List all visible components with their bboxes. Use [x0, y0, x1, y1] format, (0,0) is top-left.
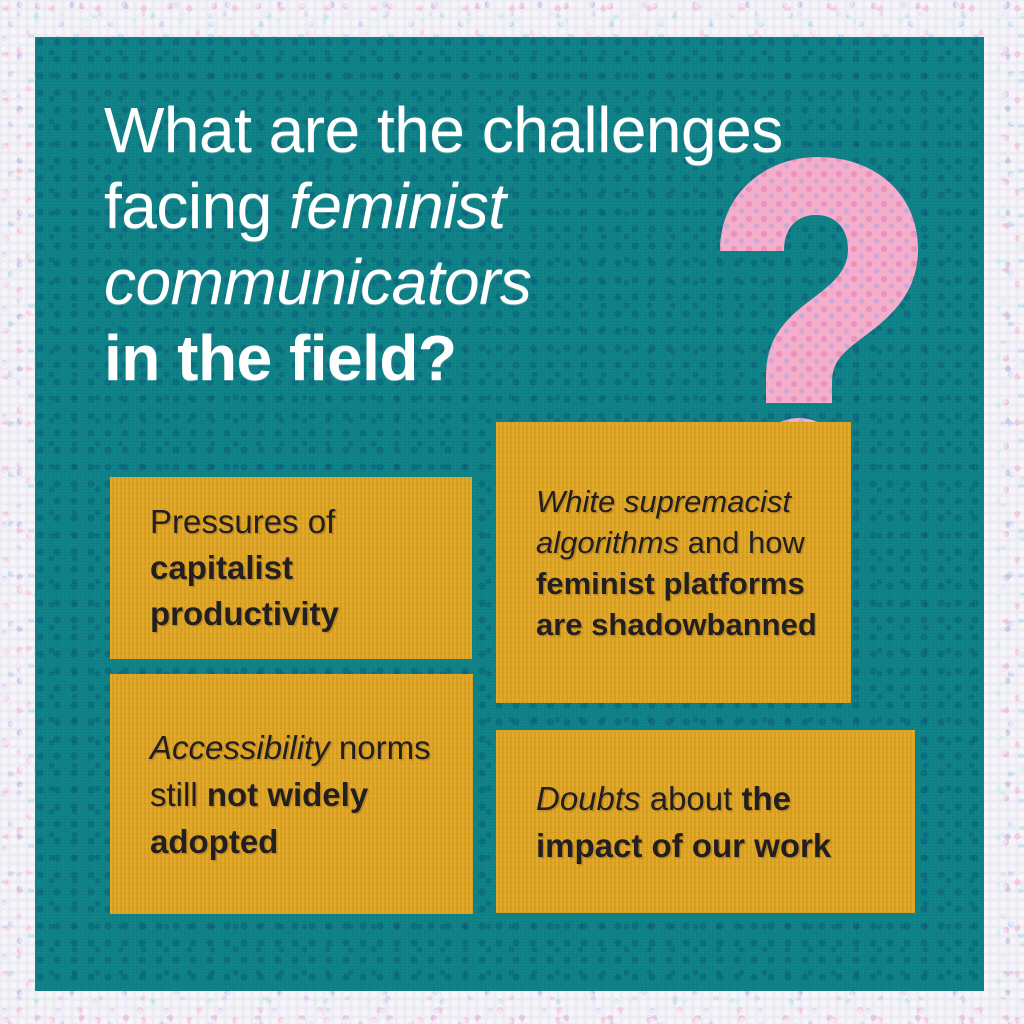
card-doubts-text: Doubts about the impact of our work — [536, 775, 901, 869]
card-algorithms-plain: and how — [679, 525, 805, 560]
card-capitalist-plain: Pressures of — [150, 503, 335, 540]
card-doubts-plain: about — [641, 780, 742, 817]
card-capitalist-bold: capitalist productivity — [150, 549, 339, 632]
card-doubts-italic: Doubts — [536, 780, 641, 817]
card-algorithms-text: White supremacist algorithms and how fem… — [536, 481, 833, 645]
headline-line-4-bold: in the field? — [104, 320, 884, 396]
headline: What are the challenges facing feminist … — [104, 92, 884, 396]
headline-line-3-italic: communicators — [104, 244, 884, 320]
card-algorithms-bold: feminist platforms are shadowbanned — [536, 566, 817, 642]
card-accessibility-italic: Accessibility — [150, 729, 330, 766]
headline-line-2-italic: feminist — [289, 170, 506, 242]
card-white-supremacist-algorithms: White supremacist algorithms and how fem… — [496, 422, 851, 703]
card-doubts-about-impact: Doubts about the impact of our work — [496, 730, 915, 913]
card-accessibility-text: Accessibility norms still not widely ado… — [150, 724, 459, 865]
headline-line-2-plain: facing — [104, 170, 289, 242]
headline-line-2: facing feminist — [104, 168, 884, 244]
poster-canvas: What are the challenges facing feminist … — [0, 0, 1024, 1024]
headline-line-1: What are the challenges — [104, 92, 884, 168]
card-capitalist-text: Pressures of capitalist productivity — [150, 499, 472, 637]
card-capitalist-productivity: Pressures of capitalist productivity — [110, 477, 472, 659]
card-accessibility-norms: Accessibility norms still not widely ado… — [110, 674, 473, 914]
